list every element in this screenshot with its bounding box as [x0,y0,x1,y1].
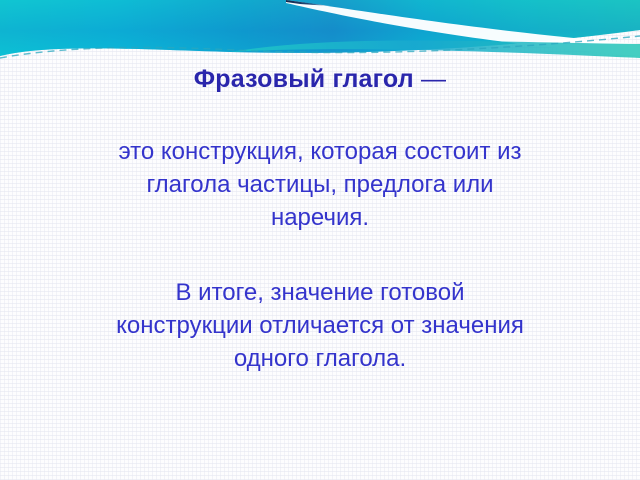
paragraph-line: наречия. [28,201,612,234]
definition-paragraph: это конструкция, которая состоит из глаг… [0,135,640,234]
paragraph-line: конструкции отличается от значения [28,309,612,342]
slide-title-dash: — [421,65,446,93]
slide-canvas: Фразовый глагол — это конструкция, котор… [0,0,640,480]
slide-content: Фразовый глагол — это конструкция, котор… [0,62,640,375]
wave-swoosh-white [286,0,640,56]
wave-band-lower [230,41,640,59]
slide-title-text: Фразовый глагол [194,65,414,93]
slide-title: Фразовый глагол — [0,62,640,96]
conclusion-paragraph: В итоге, значение готовой конструкции от… [0,276,640,375]
paragraph-line: одного глагола. [28,342,612,375]
paragraph-line: глагола частицы, предлога или [28,168,612,201]
paragraph-line: В итоге, значение готовой [28,276,612,309]
wave-swoosh-tip [286,0,330,6]
paragraph-line: это конструкция, которая состоит из [28,135,612,168]
wave-dashed-line [0,36,640,58]
wave-band-shade [0,0,640,56]
wave-band-main [0,0,640,56]
